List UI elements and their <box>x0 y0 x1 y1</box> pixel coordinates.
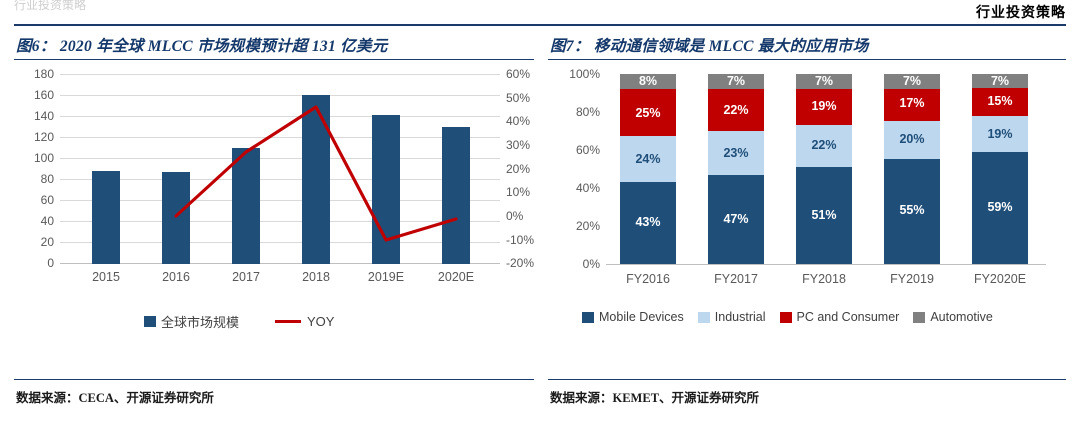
category-label: 2020E <box>426 270 486 284</box>
segment-label-mobile-fy2018: 51% <box>796 208 852 222</box>
page-root: 行业投资策略 行业投资策略 图6： 2020 年全球 MLCC 市场规模预计超 … <box>0 0 1080 425</box>
right-title-divider <box>548 59 1066 60</box>
category-label: 2019E <box>356 270 416 284</box>
segment-label-auto-fy2019: 7% <box>884 74 940 88</box>
category-label: 2018 <box>286 270 346 284</box>
category-label: 2015 <box>76 270 136 284</box>
legend-label: YOY <box>307 314 334 329</box>
legend-item-yoy: YOY <box>275 314 334 329</box>
legend-swatch-icon <box>698 312 710 323</box>
segment-label-pc-fy2018: 19% <box>796 99 852 113</box>
right-axis-tick: 100% <box>556 67 600 81</box>
segment-label-industrial-fy2017: 23% <box>708 146 764 160</box>
right-axis-tick: 80% <box>556 105 600 119</box>
legend-label: Automotive <box>930 310 993 324</box>
left-footer-divider <box>14 379 534 380</box>
segment-label-industrial-fy2016: 24% <box>620 152 676 166</box>
segment-label-mobile-fy2019: 55% <box>884 203 940 217</box>
left-title-divider <box>14 59 534 60</box>
segment-label-pc-fy2019: 17% <box>884 96 940 110</box>
segment-label-auto-fy2017: 7% <box>708 74 764 88</box>
category-label: 2017 <box>216 270 276 284</box>
header-divider <box>14 24 1066 26</box>
right-axis-tick: 0% <box>556 257 600 271</box>
left-chart-legend: 全球市场规模 YOY <box>144 312 348 331</box>
segment-label-industrial-fy2019: 20% <box>884 132 940 146</box>
category-label: FY2020E <box>964 272 1036 286</box>
right-footer-divider <box>548 379 1066 380</box>
page-header: 行业投资策略 行业投资策略 <box>0 0 1080 26</box>
category-label: FY2016 <box>612 272 684 286</box>
segment-label-pc-fy2017: 22% <box>708 103 764 117</box>
segment-label-mobile-fy2020e: 59% <box>972 200 1028 214</box>
x-axis-line <box>606 264 1046 265</box>
legend-swatch-icon <box>144 316 156 327</box>
segment-label-mobile-fy2017: 47% <box>708 212 764 226</box>
legend-label: Industrial <box>715 310 766 324</box>
yoy-line <box>14 64 534 354</box>
right-figure-title: 图7： 移动通信领域是 MLCC 最大的应用市场 <box>548 34 1066 56</box>
legend-item-pc-and-consumer: PC and Consumer <box>780 310 900 324</box>
legend-item-automotive: Automotive <box>913 310 993 324</box>
segment-label-pc-fy2020e: 15% <box>972 94 1028 108</box>
segment-label-auto-fy2018: 7% <box>796 74 852 88</box>
legend-swatch-icon <box>780 312 792 323</box>
legend-label: Mobile Devices <box>599 310 684 324</box>
segment-label-auto-fy2016: 8% <box>620 74 676 88</box>
segment-label-auto-fy2020e: 7% <box>972 74 1028 88</box>
legend-label: PC and Consumer <box>797 310 900 324</box>
segment-label-pc-fy2016: 25% <box>620 106 676 120</box>
right-axis-tick: 40% <box>556 181 600 195</box>
header-faded-text: 行业投资策略 <box>14 0 86 13</box>
segment-label-industrial-fy2020e: 19% <box>972 127 1028 141</box>
left-chart: 180 160 140 120 100 80 60 40 20 0 60% 50… <box>14 64 534 354</box>
legend-swatch-icon <box>913 312 925 323</box>
legend-item-industrial: Industrial <box>698 310 766 324</box>
legend-item-market-size: 全球市场规模 <box>144 312 239 331</box>
left-source-note: 数据来源：CECA、开源证券研究所 <box>16 387 214 406</box>
right-axis-tick: 20% <box>556 219 600 233</box>
category-label: FY2019 <box>876 272 948 286</box>
segment-label-mobile-fy2016: 43% <box>620 215 676 229</box>
legend-swatch-icon <box>582 312 594 323</box>
segment-label-industrial-fy2018: 22% <box>796 138 852 152</box>
legend-item-mobile-devices: Mobile Devices <box>582 310 684 324</box>
header-right-label: 行业投资策略 <box>976 2 1066 22</box>
category-label: FY2017 <box>700 272 772 286</box>
right-axis-tick: 60% <box>556 143 600 157</box>
left-figure-title: 图6： 2020 年全球 MLCC 市场规模预计超 131 亿美元 <box>14 34 534 56</box>
legend-label: 全球市场规模 <box>161 312 239 331</box>
right-figure-panel: 图7： 移动通信领域是 MLCC 最大的应用市场 100% 80% 60% 40… <box>548 34 1066 414</box>
category-label: FY2018 <box>788 272 860 286</box>
right-source-note: 数据来源：KEMET、开源证券研究所 <box>550 387 759 406</box>
category-label: 2016 <box>146 270 206 284</box>
right-chart: 100% 80% 60% 40% 20% 0% 43% 24% 25% 8% 4… <box>548 64 1066 354</box>
legend-line-icon <box>275 320 301 323</box>
right-chart-legend: Mobile Devices Industrial PC and Consume… <box>582 310 993 324</box>
left-figure-panel: 图6： 2020 年全球 MLCC 市场规模预计超 131 亿美元 180 16… <box>14 34 534 414</box>
